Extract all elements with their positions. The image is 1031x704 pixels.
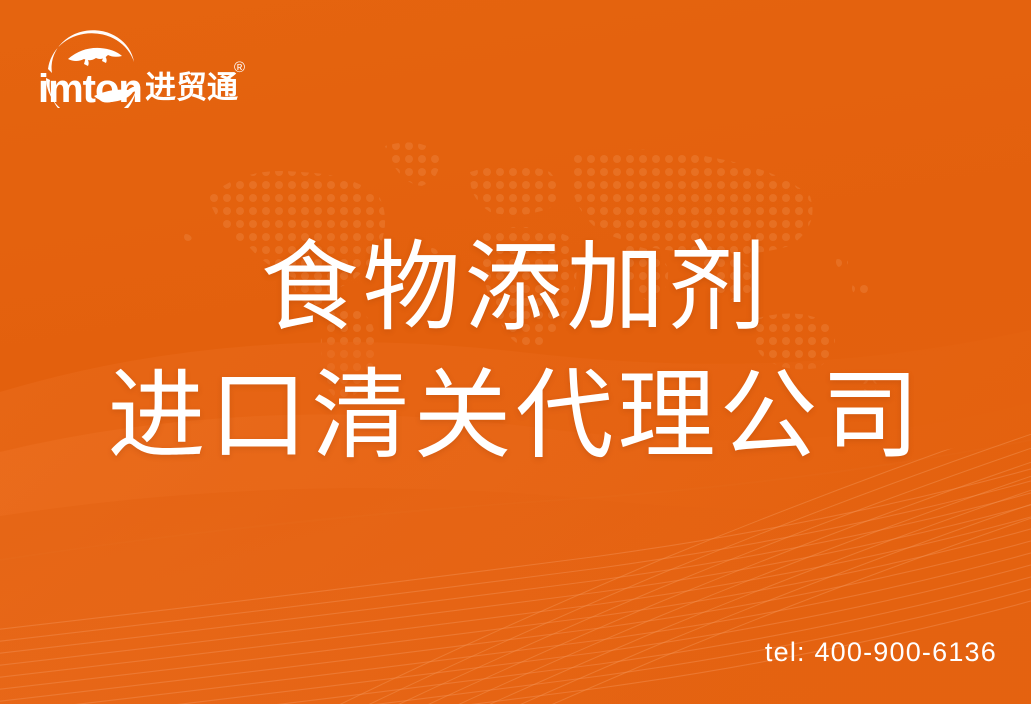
promo-banner: imton 进贸通 ® 食物添加剂 进口清关代理公司 tel: 400-900-… [0, 0, 1031, 704]
headline-line-2: 进口清关代理公司 [0, 356, 1031, 476]
logo-wordmark: imton [38, 67, 142, 108]
contact-telephone: tel: 400-900-6136 [765, 637, 997, 668]
registered-trademark-icon: ® [234, 59, 245, 76]
logo-chinese-name: 进贸通 [145, 70, 238, 105]
headline-line-1: 食物添加剂 [0, 228, 1031, 348]
brand-logo[interactable]: imton 进贸通 ® [38, 30, 253, 108]
headline: 食物添加剂 进口清关代理公司 [0, 228, 1031, 475]
